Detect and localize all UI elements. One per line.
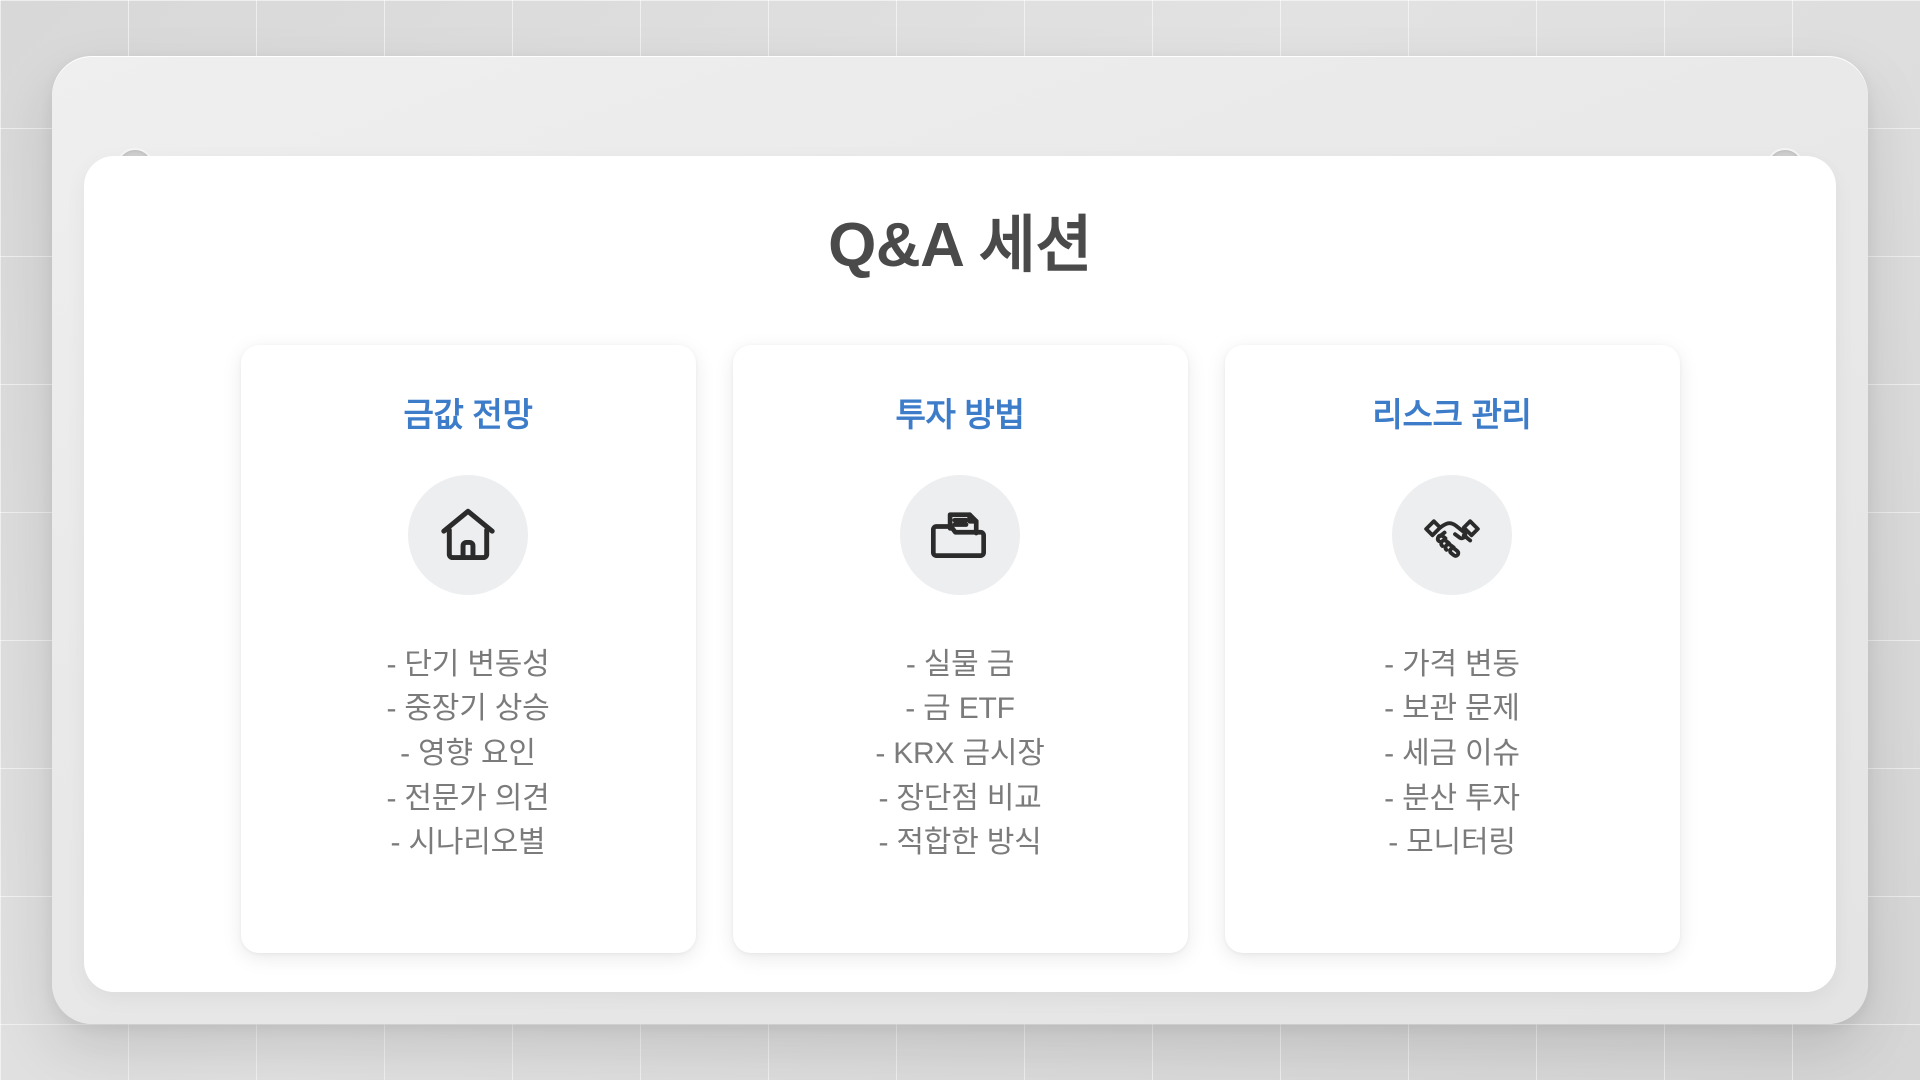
- card-grid: 금값 전망 - 단기 변동성 - 중장기 상승 - 영향 요인 - 전문가 의견…: [84, 345, 1836, 953]
- list-item: - 전문가 의견: [241, 781, 696, 818]
- handshake-icon: [1419, 502, 1485, 568]
- list-item: - KRX 금시장: [733, 736, 1188, 773]
- card-risk-management[interactable]: 리스크 관리 - 가격 변동: [1225, 345, 1680, 953]
- card-title: 리스크 관리: [1372, 395, 1531, 435]
- list-item: - 보관 문제: [1225, 691, 1680, 728]
- list-item: - 가격 변동: [1225, 647, 1680, 684]
- list-item: - 장단점 비교: [733, 781, 1188, 818]
- slide-container: Q&A 세션 금값 전망 - 단기 변동성 - 중장기 상승 - 영향 요인 -…: [84, 156, 1836, 992]
- folder-document-icon: [927, 502, 993, 568]
- card-title: 금값 전망: [403, 395, 532, 435]
- home-icon: [435, 502, 501, 568]
- list-item: - 모니터링: [1225, 825, 1680, 862]
- card-title: 투자 방법: [895, 395, 1024, 435]
- list-item: - 단기 변동성: [241, 647, 696, 684]
- icon-circle: [408, 475, 528, 595]
- list-item: - 세금 이슈: [1225, 736, 1680, 773]
- list-item: - 적합한 방식: [733, 825, 1188, 862]
- card-gold-outlook[interactable]: 금값 전망 - 단기 변동성 - 중장기 상승 - 영향 요인 - 전문가 의견…: [241, 345, 696, 953]
- list-item: - 실물 금: [733, 647, 1188, 684]
- card-item-list: - 단기 변동성 - 중장기 상승 - 영향 요인 - 전문가 의견 - 시나리…: [241, 647, 696, 870]
- icon-circle: [1392, 475, 1512, 595]
- list-item: - 영향 요인: [241, 736, 696, 773]
- list-item: - 금 ETF: [733, 691, 1188, 728]
- card-investment-method[interactable]: 투자 방법 - 실물 금 - 금 ETF - KRX 금시장 - 장단점 비교 …: [733, 345, 1188, 953]
- device-frame: Q&A 세션 금값 전망 - 단기 변동성 - 중장기 상승 - 영향 요인 -…: [52, 56, 1868, 1024]
- list-item: - 시나리오별: [241, 825, 696, 862]
- card-item-list: - 가격 변동 - 보관 문제 - 세금 이슈 - 분산 투자 - 모니터링: [1225, 647, 1680, 870]
- page-title: Q&A 세션: [84, 212, 1836, 280]
- list-item: - 중장기 상승: [241, 691, 696, 728]
- card-item-list: - 실물 금 - 금 ETF - KRX 금시장 - 장단점 비교 - 적합한 …: [733, 647, 1188, 870]
- list-item: - 분산 투자: [1225, 781, 1680, 818]
- icon-circle: [900, 475, 1020, 595]
